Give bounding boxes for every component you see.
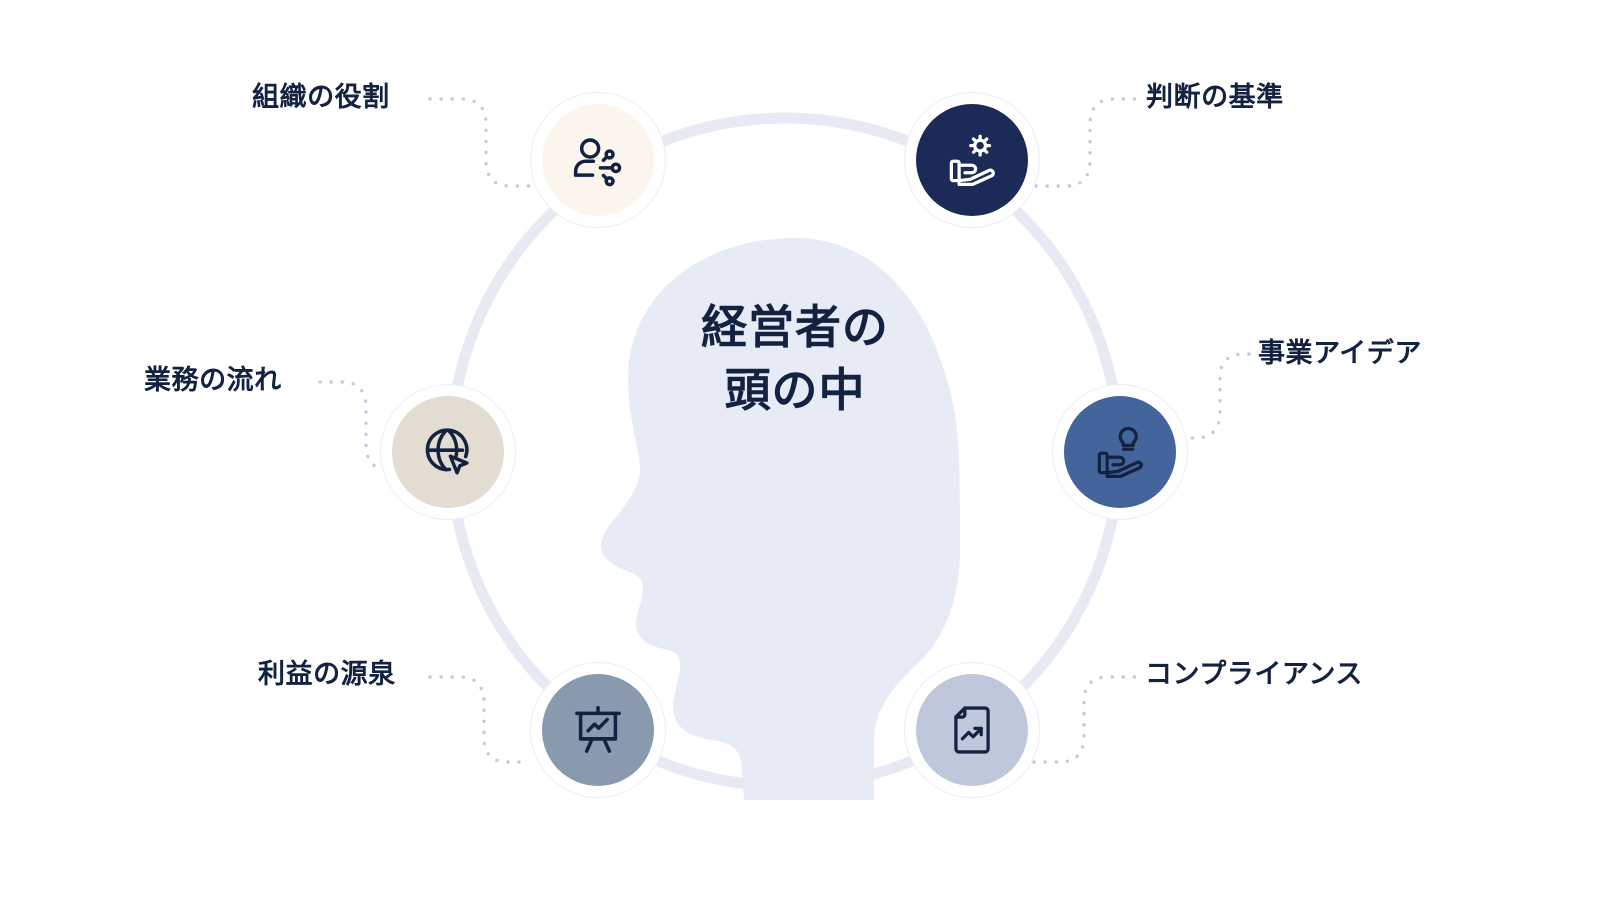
hand-gear-icon [942,130,1002,190]
node-badge-compliance[interactable] [904,662,1040,798]
connector-compliance [1034,677,1136,762]
badge-fill-organization-role [542,104,654,216]
hand-lightbulb-icon [1090,422,1150,482]
globe-cursor-icon [419,423,477,481]
node-label-profit-source: 利益の源泉 [258,661,396,688]
node-badge-decision-criteria[interactable] [904,92,1040,228]
node-label-workflow: 業務の流れ [144,367,282,394]
badge-fill-compliance [916,674,1028,786]
connector-organization-role [430,99,540,186]
document-trend-icon [945,703,999,757]
badge-fill-profit-source [542,674,654,786]
badge-fill-workflow [392,396,504,508]
user-settings-icon [569,131,627,189]
node-badge-workflow[interactable] [380,384,516,520]
node-badge-profit-source[interactable] [530,662,666,798]
connector-decision-criteria [1036,99,1140,186]
badge-fill-business-idea [1064,396,1176,508]
badge-fill-decision-criteria [916,104,1028,216]
node-badge-business-idea[interactable] [1052,384,1188,520]
node-label-decision-criteria: 判断の基準 [1146,84,1284,111]
diagram-canvas: 経営者の頭の中 [0,0,1600,900]
diagram-background [0,0,1600,900]
connector-profit-source [430,677,528,762]
presentation-chart-icon [569,701,627,759]
node-badge-organization-role[interactable] [530,92,666,228]
node-label-compliance: コンプライアンス [1145,661,1363,688]
node-label-business-idea: 事業アイデア [1258,340,1422,367]
node-label-organization-role: 組織の役割 [252,84,390,111]
